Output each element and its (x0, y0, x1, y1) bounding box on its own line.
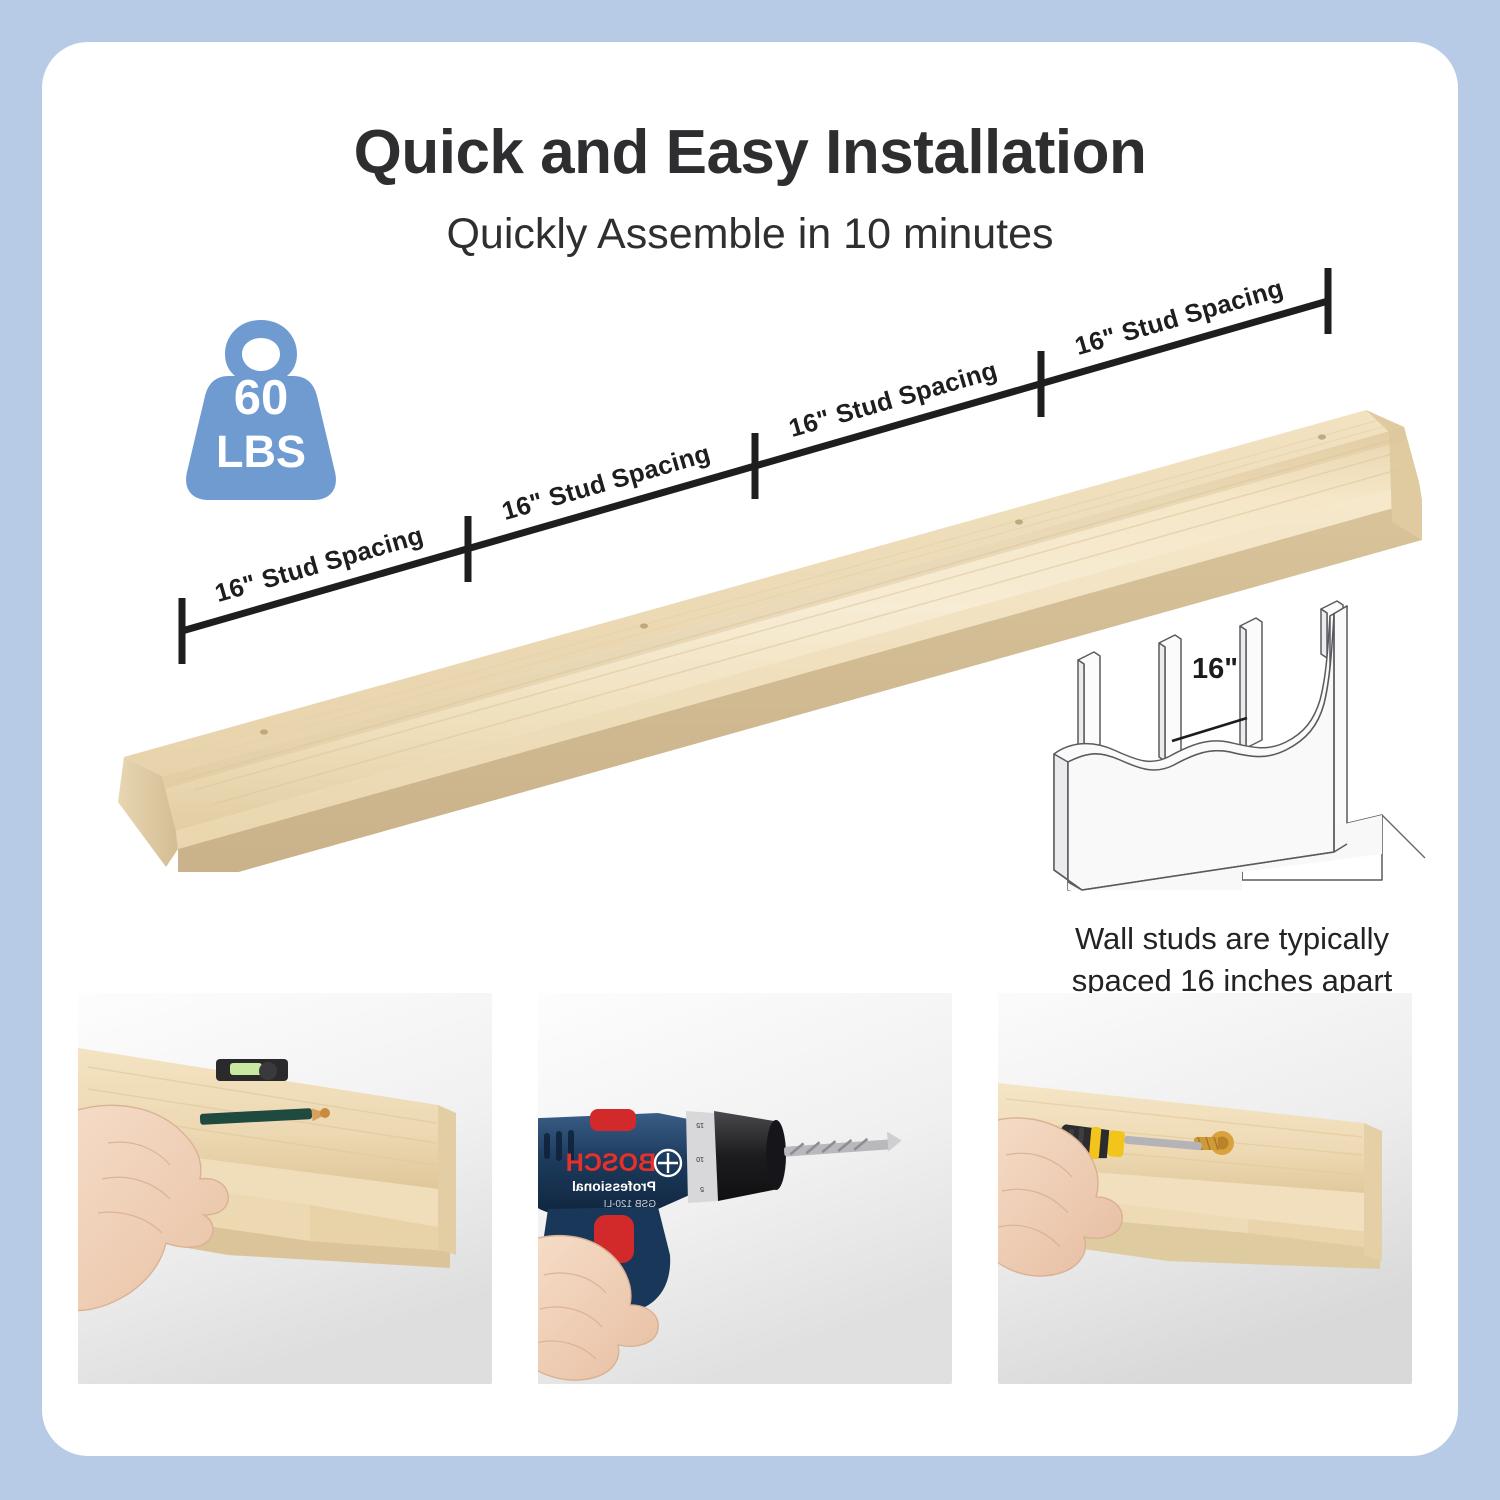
stud-measure-line (1172, 718, 1247, 741)
wall-cutaway-studs-icon (1042, 590, 1442, 920)
photo-drill-hole-in-wall: 15 10 5 (538, 993, 952, 1384)
bubble-level-icon (216, 1059, 288, 1081)
step-photo-2[interactable]: 15 10 5 (538, 993, 952, 1384)
svg-text:5: 5 (700, 1185, 704, 1192)
wall-stud-diagram: 16" (1042, 590, 1442, 920)
svg-text:15: 15 (696, 1121, 704, 1128)
step-photo-3[interactable] (998, 993, 1412, 1384)
stud-measure-label: 16" (1192, 653, 1238, 686)
svg-text:10: 10 (696, 1155, 704, 1162)
photo-drive-screw-with-screwdriver (998, 993, 1412, 1384)
stud-diagram-caption: Wall studs are typically spaced 16 inche… (1002, 918, 1458, 1002)
stud-caption-line-1: Wall studs are typically (1002, 918, 1458, 960)
photo-mark-with-pencil-and-level (78, 993, 492, 1384)
svg-text:BOSCH: BOSCH (566, 1149, 656, 1177)
infographic-card: Quick and Easy Installation Quickly Asse… (42, 42, 1458, 1456)
step-photo-1[interactable] (78, 993, 492, 1384)
installation-steps-gallery: 15 10 5 (78, 993, 1458, 1384)
svg-text:Professional: Professional (572, 1178, 656, 1194)
